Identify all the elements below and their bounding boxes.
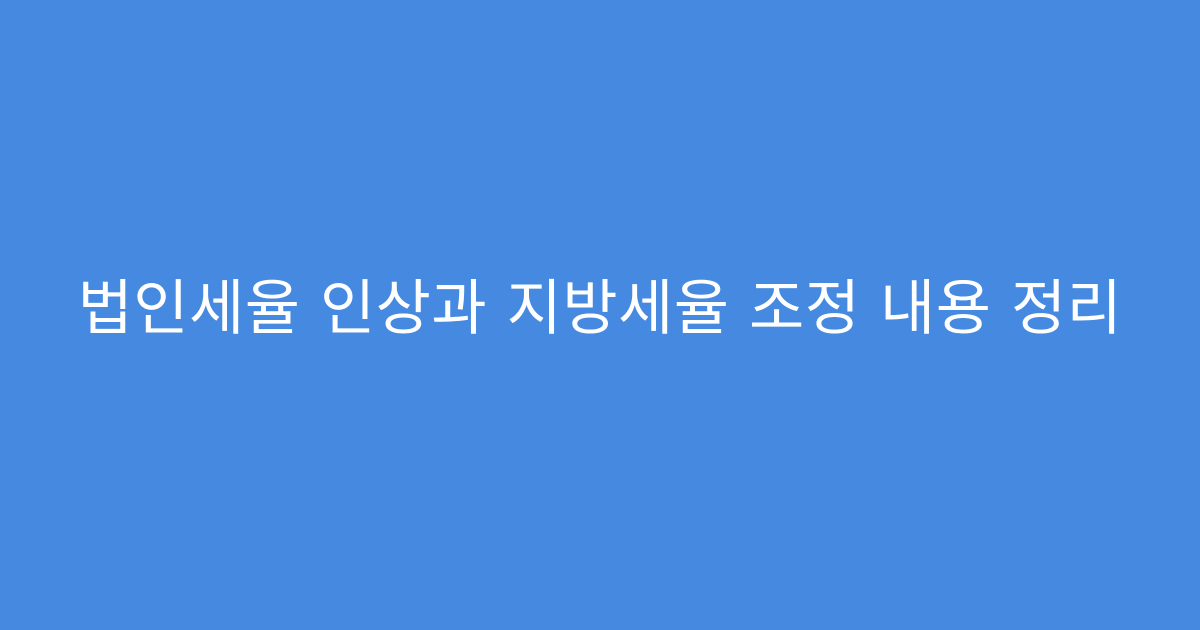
og-share-card: 법인세율 인상과 지방세율 조정 내용 정리 [0,0,1200,630]
page-title: 법인세율 인상과 지방세율 조정 내용 정리 [78,271,1123,348]
card-content-wrapper: 법인세율 인상과 지방세율 조정 내용 정리 [0,271,1200,348]
